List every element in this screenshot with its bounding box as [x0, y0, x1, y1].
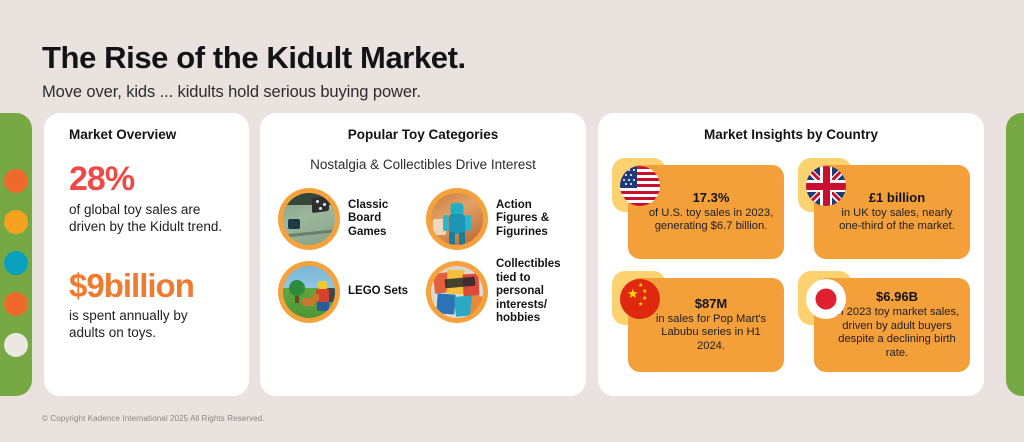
toy-category-label: Classic Board Games — [348, 199, 420, 240]
market-overview-body: 28% of global toy sales are driven by th… — [44, 162, 249, 341]
board-game-photo — [283, 193, 335, 245]
stat-desc-1: is spent annually by adults on toys. — [69, 307, 227, 342]
left-decorative-strip — [0, 113, 32, 396]
insight-value: 17.3% — [693, 190, 730, 206]
action-figure-photo — [431, 193, 483, 245]
toy-categories-subtitle: Nostalgia & Collectibles Drive Interest — [260, 157, 586, 172]
flag-united-states-icon — [620, 166, 660, 206]
header: The Rise of the Kidult Market. Move over… — [42, 40, 466, 102]
infographic-page: The Rise of the Kidult Market. Move over… — [0, 0, 1024, 442]
insight-tile-japan[interactable]: $6.96B in 2023 toy market sales, driven … — [798, 271, 970, 372]
insight-text: in sales for Pop Mart's Labubu series in… — [646, 313, 776, 354]
right-decorative-strip — [1006, 113, 1024, 396]
insight-text: in 2023 toy market sales, driven by adul… — [832, 306, 962, 361]
insight-tile-uk[interactable]: £1 billion in UK toy sales, nearly one-t… — [798, 158, 970, 259]
toy-category-item[interactable]: Action Figures & Figurines — [426, 188, 568, 250]
toy-category-item[interactable]: Collectibles tied to personal interests/… — [426, 258, 568, 326]
comic-collectibles-photo — [431, 266, 483, 318]
insight-value: £1 billion — [869, 190, 925, 206]
copyright-footer: © Copyright Kadence International 2025 A… — [42, 414, 265, 423]
page-title: The Rise of the Kidult Market. — [42, 40, 466, 76]
toy-category-label: Collectibles tied to personal interests/… — [496, 258, 568, 326]
stat-desc-0: of global toy sales are driven by the Ki… — [69, 201, 227, 236]
toy-categories-title: Popular Toy Categories — [260, 127, 586, 142]
strip-dot-2 — [4, 251, 28, 275]
insight-value: $6.96B — [876, 289, 918, 305]
toy-image-ring — [426, 188, 488, 250]
market-insights-title: Market Insights by Country — [598, 127, 984, 142]
insight-text: in UK toy sales, nearly one-third of the… — [832, 207, 962, 234]
strip-dot-4 — [4, 333, 28, 357]
strip-dot-3 — [4, 292, 28, 316]
toy-category-item[interactable]: Classic Board Games — [278, 188, 420, 250]
toy-image-ring — [426, 261, 488, 323]
flag-united-kingdom-icon — [806, 166, 846, 206]
popular-toy-categories-card: Popular Toy Categories Nostalgia & Colle… — [260, 113, 586, 396]
flag-china-icon: ★ ★ ★ ★ ★ — [620, 279, 660, 319]
flag-japan-icon — [806, 279, 846, 319]
lego-scene-photo — [283, 266, 335, 318]
toy-category-label: Action Figures & Figurines — [496, 199, 568, 240]
market-overview-title: Market Overview — [44, 127, 249, 142]
insights-grid: 17.3% of U.S. toy sales in 2023, generat… — [598, 158, 984, 372]
insight-text: of U.S. toy sales in 2023, generating $6… — [646, 207, 776, 234]
toy-image-ring — [278, 188, 340, 250]
toy-category-label: LEGO Sets — [348, 285, 408, 299]
toy-image-ring — [278, 261, 340, 323]
insight-tile-china[interactable]: $87M in sales for Pop Mart's Labubu seri… — [612, 271, 784, 372]
toy-category-grid: Classic Board Games Action Figures & Fig… — [260, 188, 586, 326]
insight-value: $87M — [695, 296, 728, 312]
strip-dot-1 — [4, 210, 28, 234]
stat-value-1: $9billion — [69, 269, 227, 304]
strip-dot-0 — [4, 169, 28, 193]
market-insights-card: Market Insights by Country 17.3% of U.S.… — [598, 113, 984, 396]
stat-value-0: 28% — [69, 162, 227, 198]
insight-tile-us[interactable]: 17.3% of U.S. toy sales in 2023, generat… — [612, 158, 784, 259]
market-overview-card: Market Overview 28% of global toy sales … — [44, 113, 249, 396]
page-subtitle: Move over, kids ... kidults hold serious… — [42, 83, 466, 102]
toy-category-item[interactable]: LEGO Sets — [278, 258, 420, 326]
